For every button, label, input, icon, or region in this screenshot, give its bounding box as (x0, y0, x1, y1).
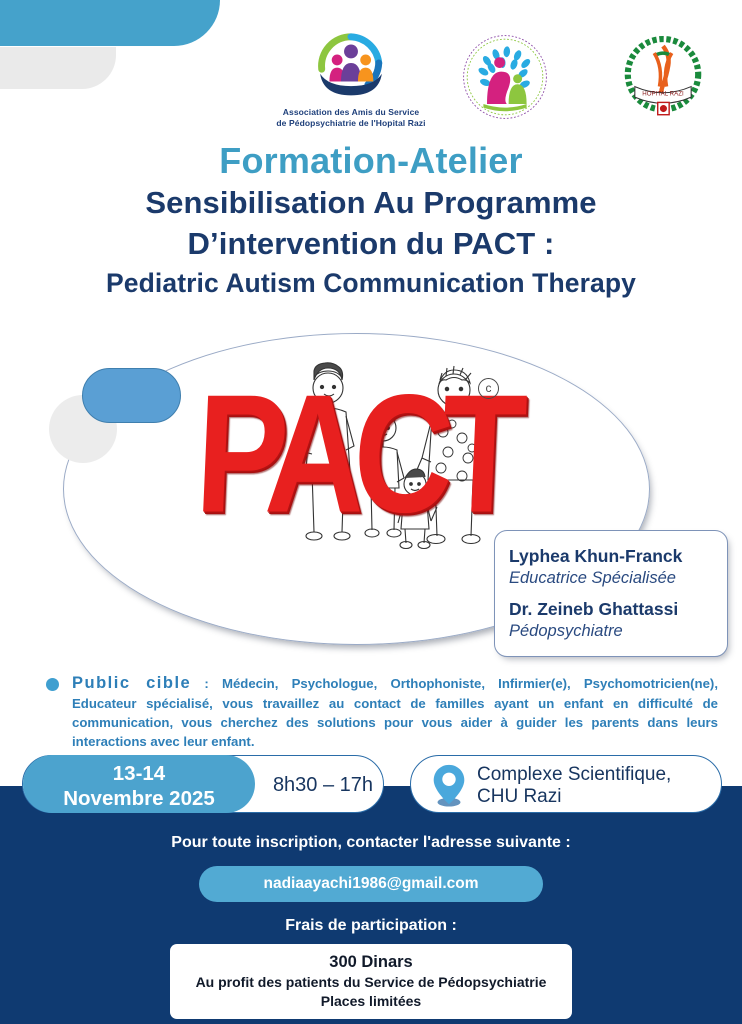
datetime-capsule: 13-14 Novembre 2025 8h30 – 17h (22, 755, 384, 813)
fees-label: Frais de participation : (0, 917, 742, 935)
date-line-1: 13-14 (23, 761, 255, 786)
fees-note-2: Places limitées (176, 992, 566, 1011)
speaker-name-2: Dr. Zeineb Ghattassi (509, 598, 719, 621)
audience-text: Public cible : Médecin, Psychologue, Ort… (72, 672, 718, 752)
hopital-razi-logo-icon: HOPITAL RAZI (619, 32, 707, 120)
association-logo: Association des Amis du Service de Pédop… (268, 26, 434, 130)
date-line-2: Novembre 2025 (23, 786, 255, 811)
ministry-health-logo-icon (460, 32, 550, 122)
speaker-role-1: Educatrice Spécialisée (509, 568, 719, 589)
logo-row: Association des Amis du Service de Pédop… (0, 18, 742, 138)
location-capsule: Complexe Scientifique, CHU Razi (410, 755, 722, 813)
fees-note-1: Au profit des patients du Service de Péd… (176, 973, 566, 992)
decorative-blue-pill (82, 368, 181, 423)
registration-prompt: Pour toute inscription, contacter l'adre… (0, 834, 742, 852)
speaker-name-1: Lyphea Khun-Franck (509, 545, 719, 568)
title-line-2: Sensibilisation Au Programme (0, 182, 742, 224)
date-badge: 13-14 Novembre 2025 (23, 755, 255, 813)
fees-amount: 300 Dinars (176, 951, 566, 973)
location-line-2: CHU Razi (477, 786, 715, 808)
location-pin-icon (429, 763, 469, 807)
speaker-role-2: Pédopsychiatre (509, 621, 719, 642)
location-line-1: Complexe Scientifique, (477, 764, 715, 786)
speakers-card: Lyphea Khun-Franck Educatrice Spécialisé… (494, 530, 728, 657)
association-logo-icon (312, 26, 390, 100)
registration-email[interactable]: nadiaayachi1986@gmail.com (199, 866, 543, 902)
time-text: 8h30 – 17h (263, 756, 383, 814)
svg-text:HOPITAL RAZI: HOPITAL RAZI (642, 90, 684, 97)
fees-box: 300 Dinars Au profit des patients du Ser… (170, 944, 572, 1019)
title-line-3: D’intervention du PACT : (0, 223, 742, 265)
hopital-razi-logo: HOPITAL RAZI (610, 32, 716, 125)
association-caption-line2: de Pédopsychiatrie de l'Hopital Razi (268, 118, 434, 129)
audience-separator: : (191, 676, 222, 691)
pact-wordmark: PACT (193, 370, 518, 538)
title-line-4: Pediatric Autism Communication Therapy (0, 265, 742, 302)
copyright-icon: c (478, 378, 499, 399)
audience-block: Public cible : Médecin, Psychologue, Ort… (46, 672, 718, 752)
audience-label: Public cible (72, 674, 191, 692)
title-block: Formation-Atelier Sensibilisation Au Pro… (0, 140, 742, 302)
pact-artwork: PACT c (200, 360, 510, 550)
bullet-dot-icon (46, 678, 59, 691)
title-kicker: Formation-Atelier (0, 140, 742, 182)
location-text: Complexe Scientifique, CHU Razi (477, 764, 715, 809)
association-caption-line1: Association des Amis du Service (268, 107, 434, 118)
association-logo-caption: Association des Amis du Service de Pédop… (268, 107, 434, 130)
ministry-health-logo (450, 32, 560, 127)
poster-root: Association des Amis du Service de Pédop… (0, 0, 742, 1024)
